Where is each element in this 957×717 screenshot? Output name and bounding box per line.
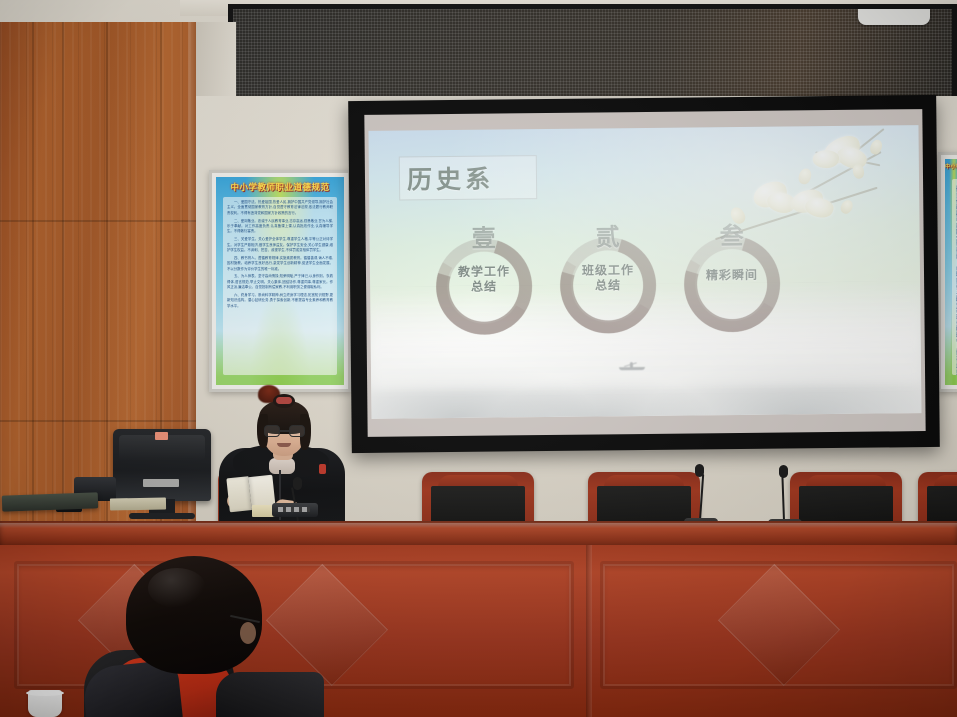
poster-body: 一、爱国守法。热爱祖国,热爱人民,拥护中国共产党领导,拥护社会主义。全面贯彻国家… <box>223 197 337 375</box>
microphone-base <box>272 503 318 517</box>
teacher-ethics-poster-left: 中小学教师职业道德规范 一、爱国守法。热爱祖国,热爱人民,拥护中国共产党领导,拥… <box>209 170 351 392</box>
eyeglasses-icon <box>264 425 305 437</box>
desk-seam <box>586 545 592 717</box>
poster-paragraph: 五、为人师表。坚守高尚情操,知荣明耻,严于律己,以身作则。衣着得体,语言规范,举… <box>227 274 333 290</box>
poster-title: 中小学教师职业道德规范 <box>216 181 344 193</box>
poster-paragraph: 一、爱国守法。热爱祖国,热爱人民,拥护中国共产党领导,拥护社会主义。全面贯彻国家… <box>227 200 333 216</box>
poster-paragraph: 三、关爱学生。关心爱护全体学生,尊重学生人格,平等公正对待学生。对学生严慈相济,… <box>227 237 333 253</box>
meeting-room-photo: 中小学教师职业道德规范 一、爱国守法。热爱祖国,热爱人民,拥护中国共产党领导,拥… <box>0 0 957 717</box>
agenda-numeral: 壹 <box>435 219 531 255</box>
slide-department-title: 历史系 <box>407 159 527 196</box>
ceiling-fixture <box>858 9 930 25</box>
computer-monitor <box>113 429 211 501</box>
presentation-slide: 历史系 壹 教学工作 总结 贰 班级工作 总结 <box>368 125 921 419</box>
keyboard <box>2 492 98 511</box>
desk-panel <box>600 561 957 689</box>
agenda-label: 教学工作 总结 <box>416 264 552 295</box>
poster-background: 中小学教师职业道德规范 一、爱国守法。热爱祖国,热爱人民,拥护中国共产党领导,拥… <box>216 177 344 385</box>
agenda-label: 班级工作 总结 <box>540 263 676 294</box>
paper-cup <box>28 690 62 717</box>
agenda-numeral: 叁 <box>683 216 779 252</box>
agenda-item-2: 贰 班级工作 总结 <box>560 237 657 334</box>
acoustic-mesh-panel <box>228 4 957 108</box>
teacher-ethics-poster-right: 中小学教师职业道德规范 一、爱国守法。热爱祖国,热爱人民,拥护中国共产党领导。 … <box>938 152 957 392</box>
poster-background: 中小学教师职业道德规范 一、爱国守法。热爱祖国,热爱人民,拥护中国共产党领导。 … <box>945 159 957 385</box>
agenda-rings: 壹 教学工作 总结 贰 班级工作 总结 叁 精彩瞬间 <box>370 235 921 362</box>
poster-title: 中小学教师职业道德规范 <box>945 163 957 170</box>
poster-paragraph: 四、教书育人。遵循教育规律,实施素质教育。循循善诱,诲人不倦,因材施教。培养学生… <box>227 256 333 272</box>
poster-paragraph: 二、爱岗敬业。忠诚于人民教育事业,志存高远,勤恳敬业,甘为人梯,乐于奉献。对工作… <box>227 219 333 235</box>
projection-screen-frame: 历史系 壹 教学工作 总结 贰 班级工作 总结 <box>348 95 940 453</box>
poster-paragraph: 六、终身学习。崇尚科学精神,树立终身学习理念,拓宽知识视野,更新知识结构。潜心钻… <box>227 293 333 309</box>
agenda-item-1: 壹 教学工作 总结 <box>436 239 533 336</box>
poster-body: 一、爱国守法。热爱祖国,热爱人民,拥护中国共产党领导。 二、爱岗敬业。忠诚于人民… <box>952 179 957 375</box>
paper-stack <box>110 498 166 511</box>
desk-top <box>0 521 957 547</box>
agenda-numeral: 贰 <box>559 217 655 253</box>
agenda-item-3: 叁 精彩瞬间 <box>684 236 781 333</box>
boat-icon <box>618 360 644 370</box>
agenda-label: 精彩瞬间 <box>664 268 800 284</box>
projection-screen-mat: 历史系 壹 教学工作 总结 贰 班级工作 总结 <box>364 109 925 437</box>
audience-person <box>84 556 324 717</box>
